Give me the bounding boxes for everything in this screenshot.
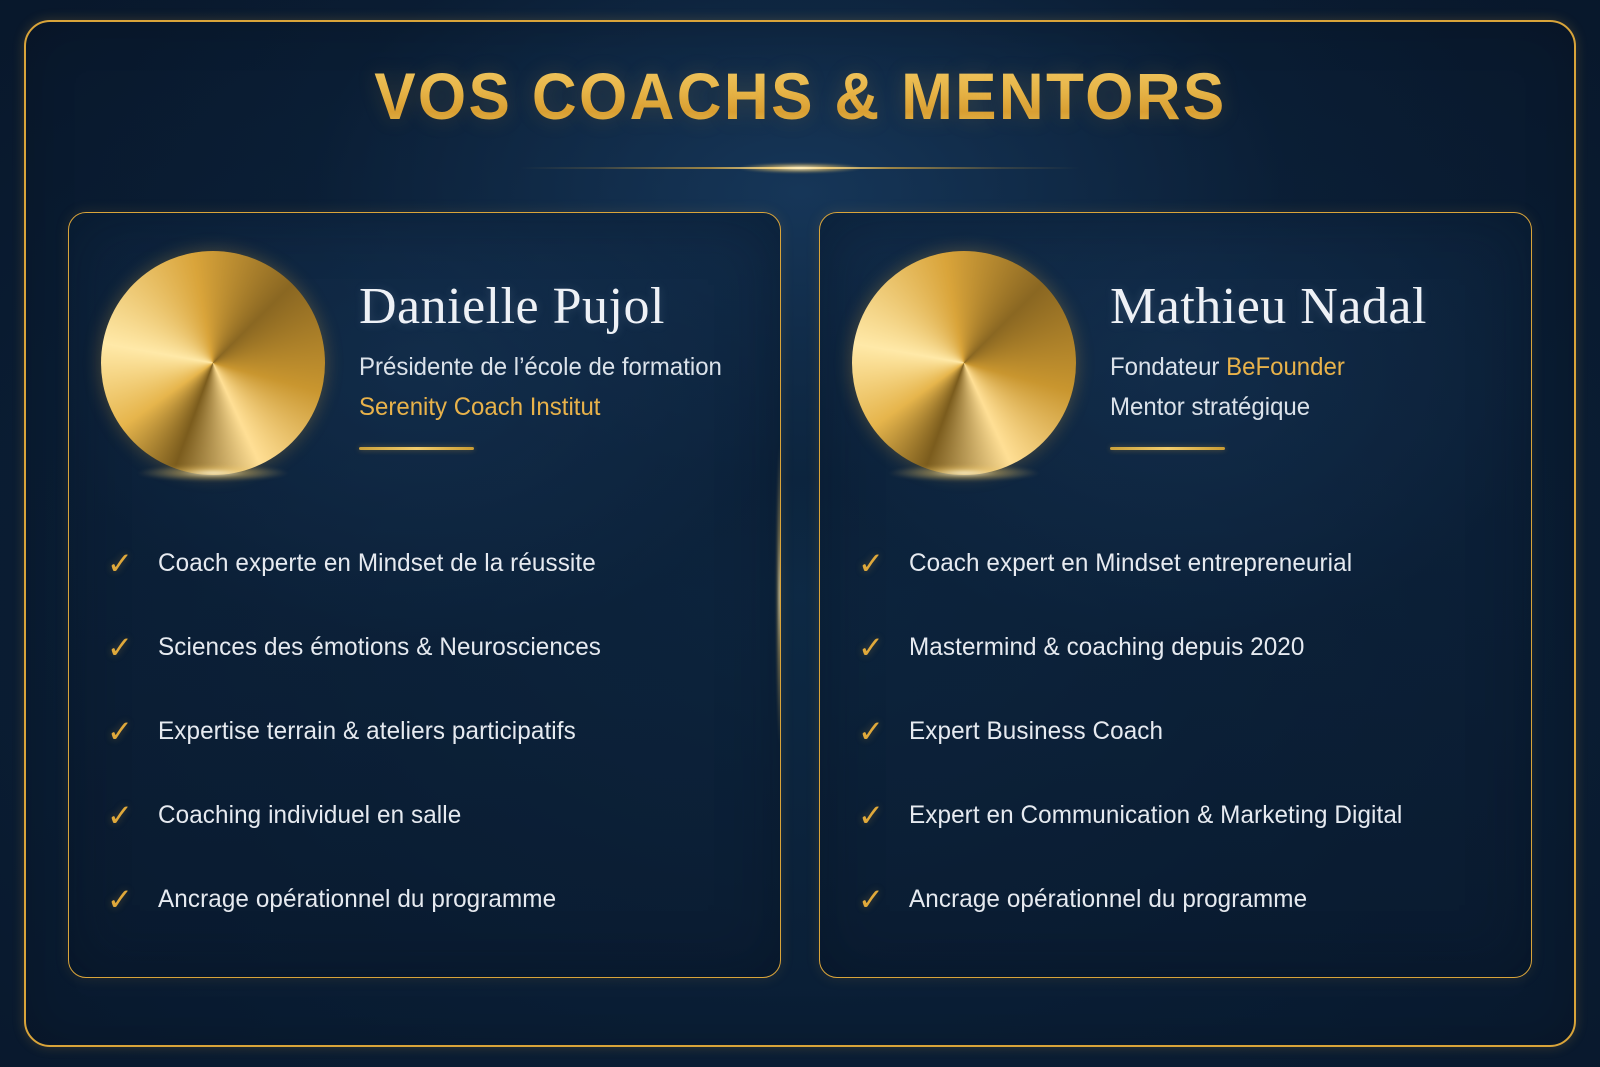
credentials-list-mathieu: ✓ Coach expert en Mindset entrepreneuria… [820,521,1531,941]
list-item-label: Coaching individuel en salle [158,801,461,830]
name-underline [359,447,474,450]
identity-block-mathieu: Mathieu Nadal Fondateur BeFounder Mentor… [1110,276,1427,451]
list-item: ✓ Ancrage opérationnel du programme [107,857,750,941]
list-item: ✓ Expert en Communication & Marketing Di… [858,773,1501,857]
list-item: ✓ Expert Business Coach [858,689,1501,773]
list-item-label: Coach experte en Mindset de la réussite [158,549,596,578]
check-icon: ✓ [858,632,884,663]
flare-bar [520,167,1080,169]
list-item-label: Sciences des émotions & Neurosciences [158,633,601,662]
coach-header-danielle: Danielle Pujol Présidente de l’école de … [69,213,780,475]
coach-role-brand: BeFounder [1226,353,1345,381]
portrait-photo-icon [107,257,319,469]
header: VOS COACHS & MENTORS [0,62,1600,131]
list-item-label: Expertise terrain & ateliers participati… [158,717,576,746]
list-item: ✓ Sciences des émotions & Neurosciences [107,605,750,689]
avatar [852,251,1076,475]
coach-name: Mathieu Nadal [1110,280,1427,335]
list-item: ✓ Coach expert en Mindset entrepreneuria… [858,521,1501,605]
check-icon: ✓ [107,800,133,831]
coach-header-mathieu: Mathieu Nadal Fondateur BeFounder Mentor… [820,213,1531,475]
list-item: ✓ Expertise terrain & ateliers participa… [107,689,750,773]
portrait-photo-icon [858,257,1070,469]
list-item-label: Ancrage opérationnel du programme [909,885,1307,914]
coach-role: Présidente de l’école de formation Seren… [359,348,722,427]
title-flare-ornament [520,162,1080,174]
list-item: ✓ Coach experte en Mindset de la réussit… [107,521,750,605]
check-icon: ✓ [858,716,884,747]
check-icon: ✓ [858,884,884,915]
coach-role-line-2: Mentor stratégique [1110,388,1414,428]
coach-card-danielle: Danielle Pujol Présidente de l’école de … [68,212,781,978]
coach-role-line-1: Présidente de l’école de formation [359,348,722,388]
list-item-label: Coach expert en Mindset entrepreneurial [909,549,1352,578]
coach-role-prefix: Fondateur [1110,353,1226,381]
list-item-label: Mastermind & coaching depuis 2020 [909,633,1304,662]
avatar [101,251,325,475]
check-icon: ✓ [107,884,133,915]
coach-name: Danielle Pujol [359,280,737,335]
coach-card-mathieu: Mathieu Nadal Fondateur BeFounder Mentor… [819,212,1532,978]
name-underline [1110,447,1225,450]
list-item-label: Expert Business Coach [909,717,1163,746]
coach-role-line-1: Fondateur BeFounder [1110,348,1414,388]
list-item: ✓ Coaching individuel en salle [107,773,750,857]
coach-role: Fondateur BeFounder Mentor stratégique [1110,348,1414,427]
list-item: ✓ Ancrage opérationnel du programme [858,857,1501,941]
identity-block-danielle: Danielle Pujol Présidente de l’école de … [359,276,737,451]
list-item-label: Expert en Communication & Marketing Digi… [909,801,1402,830]
check-icon: ✓ [107,632,133,663]
check-icon: ✓ [858,800,884,831]
coaches-cards-row: Danielle Pujol Présidente de l’école de … [68,212,1532,978]
coach-role-line-2: Serenity Coach Institut [359,388,722,428]
check-icon: ✓ [107,716,133,747]
flare-core [740,163,860,173]
page-title: VOS COACHS & MENTORS [374,62,1226,131]
list-item-label: Ancrage opérationnel du programme [158,885,556,914]
check-icon: ✓ [107,548,133,579]
list-item: ✓ Mastermind & coaching depuis 2020 [858,605,1501,689]
credentials-list-danielle: ✓ Coach experte en Mindset de la réussit… [69,521,780,941]
check-icon: ✓ [858,548,884,579]
